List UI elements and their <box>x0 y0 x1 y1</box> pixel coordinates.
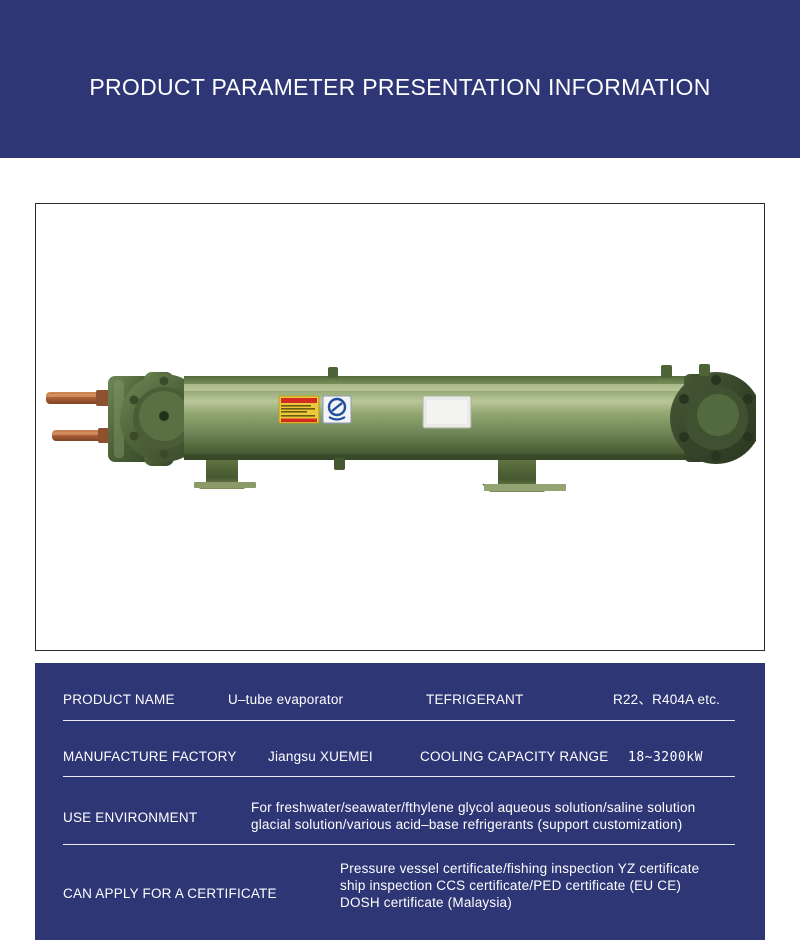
certification-badge <box>323 396 351 423</box>
spec-label-product-name: PRODUCT NAME <box>63 691 175 708</box>
support-foot-left <box>194 460 256 489</box>
spec-label-use-environment: USE ENVIRONMENT <box>63 809 197 826</box>
page-title: PRODUCT PARAMETER PRESENTATION INFORMATI… <box>0 74 800 101</box>
product-spec-table: PRODUCT NAME U–tube evaporator TEFRIGERA… <box>35 663 765 940</box>
spec-value-product-name: U–tube evaporator <box>228 691 343 708</box>
spec-label-certificate: CAN APPLY FOR A CERTIFICATE <box>63 885 277 902</box>
spec-label-manufacture-factory: MANUFACTURE FACTORY <box>63 748 237 765</box>
spec-value-refrigerant: R22、R404A etc. <box>613 691 720 708</box>
spec-label-refrigerant: TEFRIGERANT <box>426 691 523 708</box>
support-foot-right <box>482 460 566 492</box>
table-row: MANUFACTURE FACTORY Jiangsu XUEMEI COOLI… <box>35 721 765 776</box>
spec-label-cooling-capacity-range: COOLING CAPACITY RANGE <box>420 748 608 765</box>
copper-inlet-pipes <box>46 390 114 443</box>
spec-value-certificate: Pressure vessel certificate/fishing insp… <box>340 860 699 911</box>
table-row: CAN APPLY FOR A CERTIFICATE Pressure ves… <box>35 845 765 940</box>
product-image-frame <box>35 203 765 651</box>
page-header-band: PRODUCT PARAMETER PRESENTATION INFORMATI… <box>0 0 800 158</box>
nameplate <box>423 396 471 428</box>
spec-value-manufacture-factory: Jiangsu XUEMEI <box>268 748 373 765</box>
product-photo <box>36 204 764 650</box>
spec-value-use-environment: For freshwater/seawater/fthylene glycol … <box>251 799 695 833</box>
warning-label <box>279 396 319 423</box>
table-row: PRODUCT NAME U–tube evaporator TEFRIGERA… <box>35 663 765 719</box>
spec-value-cooling-capacity-range: 18~3200kW <box>628 749 703 766</box>
table-row: USE ENVIRONMENT For freshwater/seawater/… <box>35 777 765 844</box>
evaporator-illustration <box>44 354 756 494</box>
bottom-nozzle <box>334 458 345 470</box>
